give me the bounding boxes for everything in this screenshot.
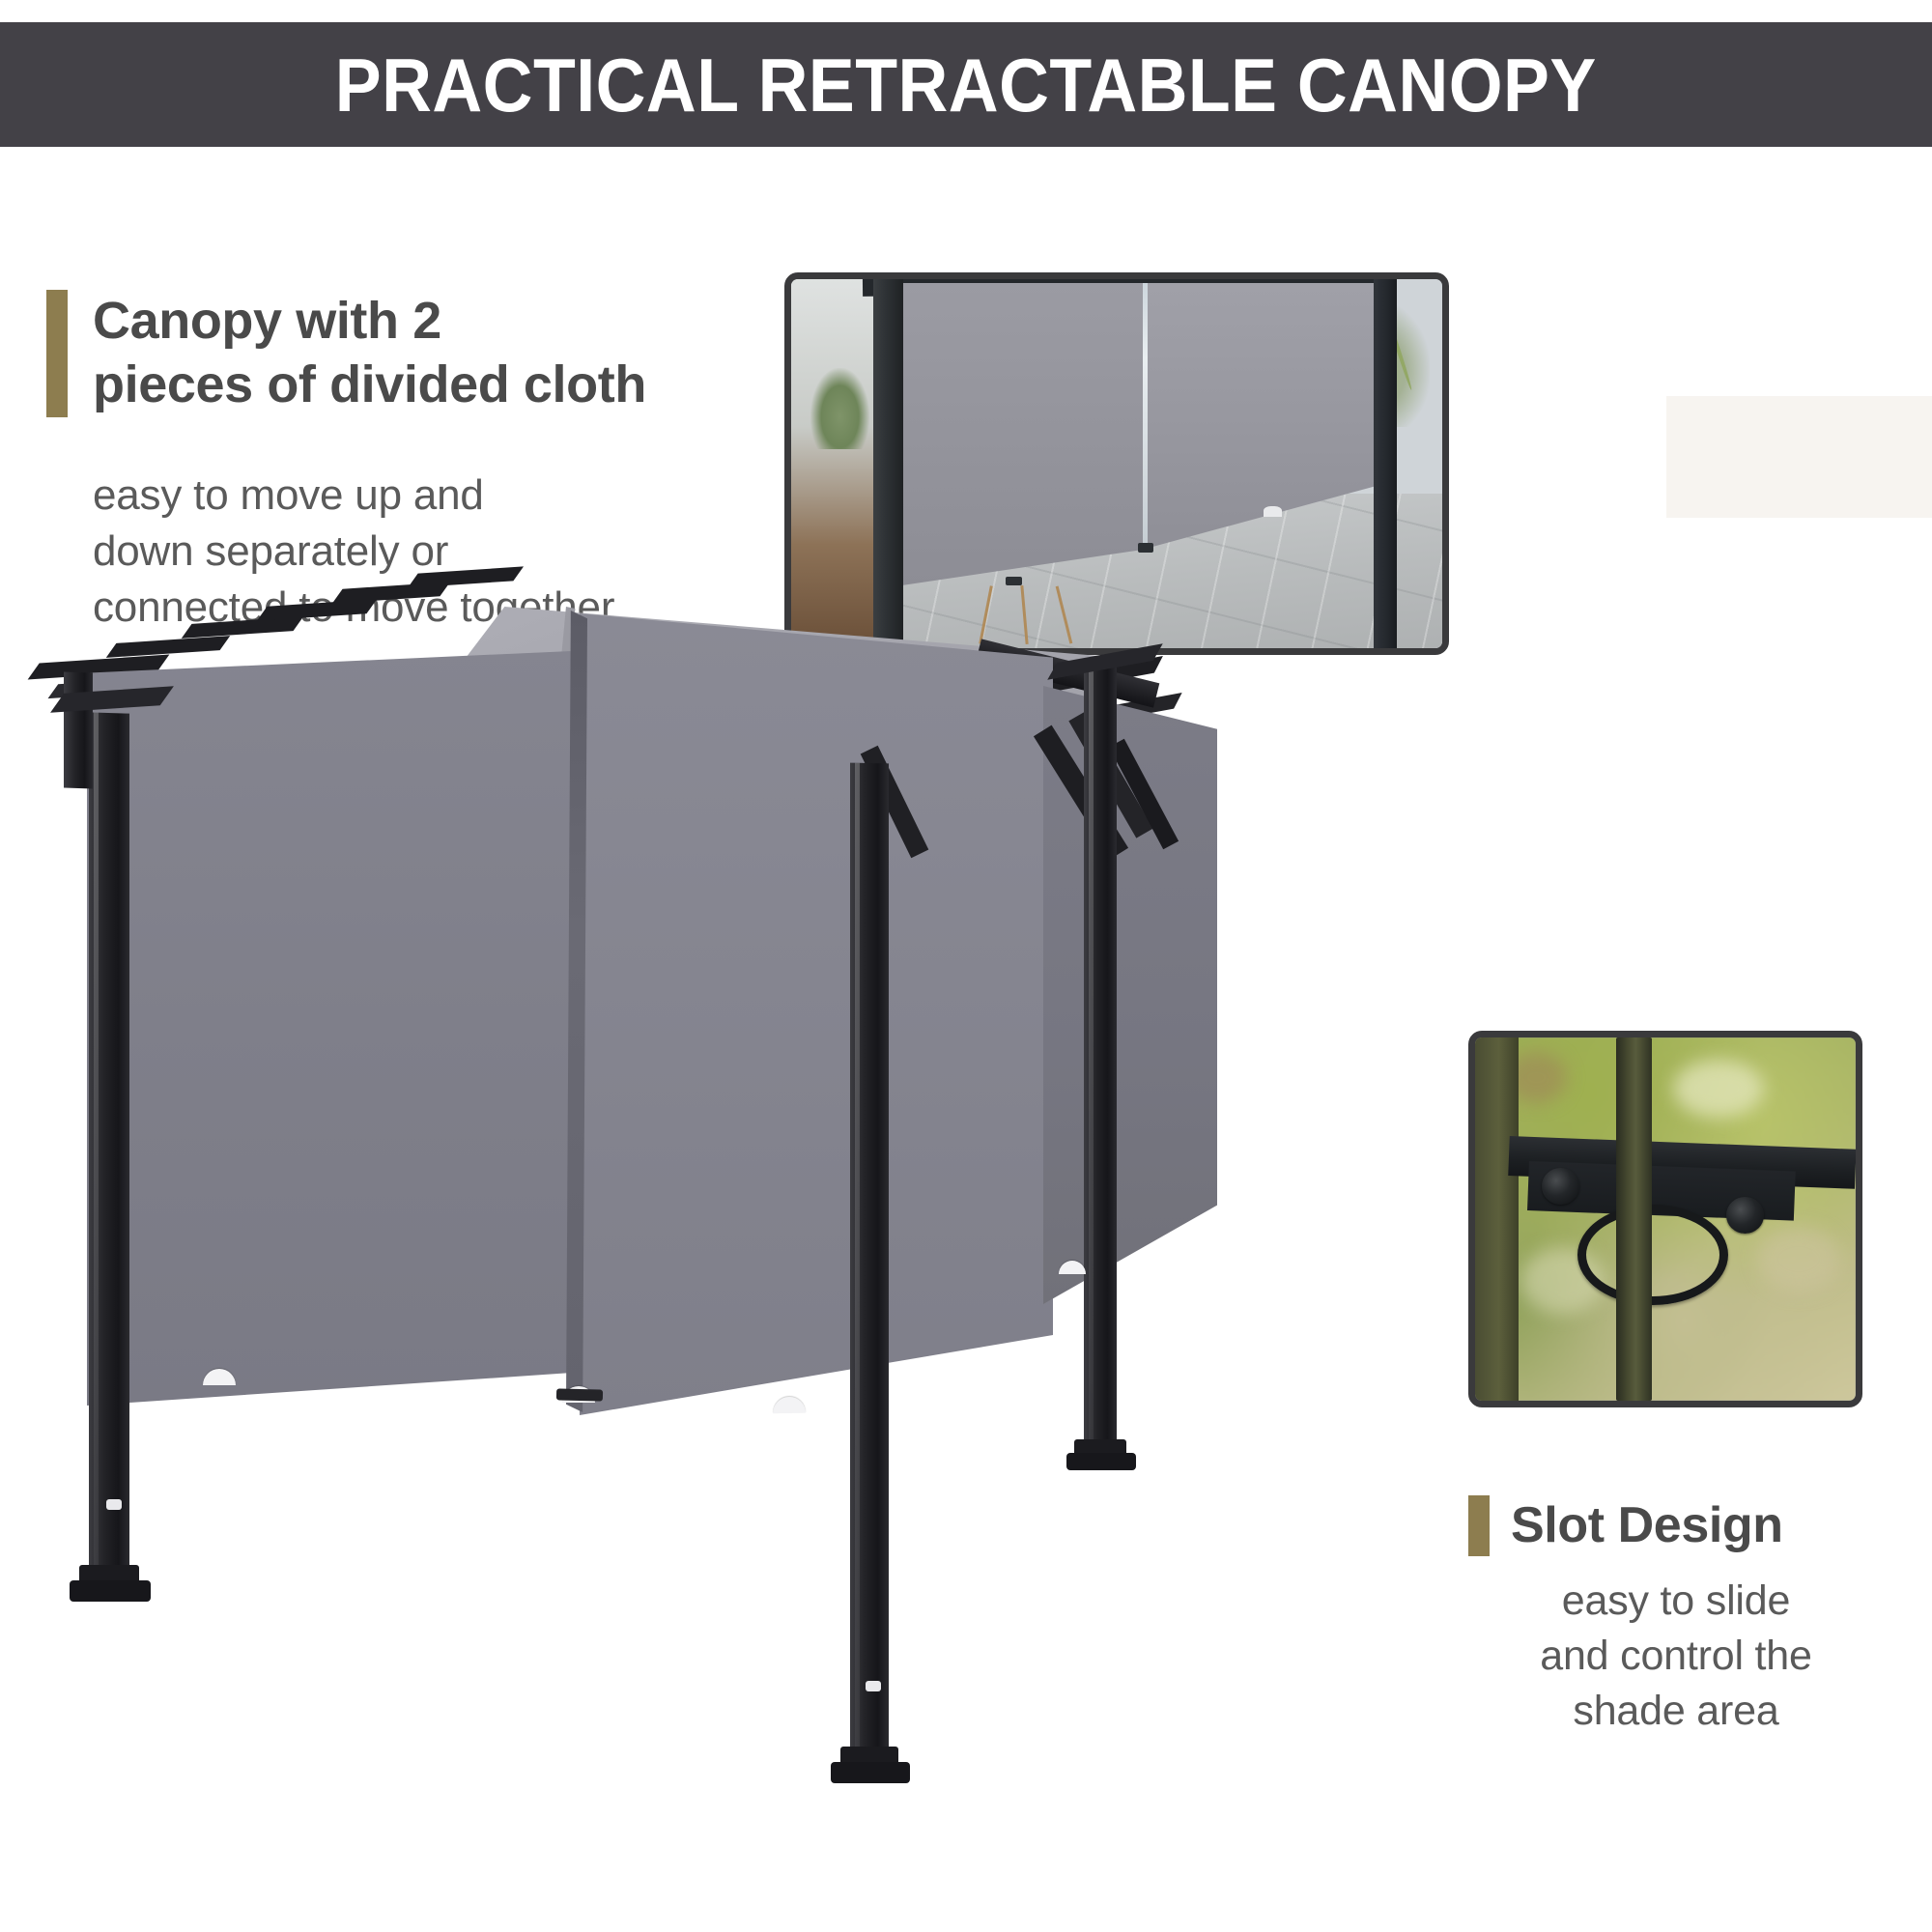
post-rear-right [1084,663,1117,1454]
post-base-plate-outer [70,1580,151,1602]
decorative-cream-panel [1666,396,1932,518]
page-title: PRACTICAL RETRACTABLE CANOPY [335,47,1597,123]
feature-heading-row: Canopy with 2 pieces of divided cloth [46,290,703,417]
pergola-render [0,667,1507,1884]
feature-heading-line-2: pieces of divided cloth [93,354,646,417]
photo-canopy-clip [1138,543,1153,553]
feature-slot-design: Slot Design easy to slide and control th… [1468,1495,1884,1739]
photo-bolt-left [1542,1168,1579,1205]
post-rear-left [64,671,93,788]
post-base-plate-outer [831,1762,910,1783]
post-fastener [106,1499,122,1510]
accent-bar-icon [46,290,68,417]
post-front-center [850,763,889,1769]
feature-heading-line-1: Canopy with 2 [93,290,646,354]
photo-table-leg [979,585,993,644]
photo-light-blob [1757,1227,1841,1293]
canopy-panel-front-right [580,613,1053,1415]
feature-heading: Canopy with 2 pieces of divided cloth [93,290,646,417]
canopy-bottom-clip [556,1388,603,1401]
accent-bar-icon [1468,1495,1490,1556]
feature-body-line-1: easy to move up and [93,468,703,524]
post-highlight [1089,663,1094,1453]
photo-canopy-eyelet [1264,506,1282,517]
feature-body-line-2: and control the [1468,1629,1884,1684]
photo-table-leg [1056,586,1073,644]
slot-detail-photo [1468,1031,1862,1407]
canopy-eyelet [773,1397,806,1414]
feature-body-line-2: down separately or [93,524,703,580]
photo-table-leg [1021,585,1029,644]
photo-canopy-seam [1143,283,1148,553]
feature-body-line-3: shade area [1468,1684,1884,1739]
photo-canopy-clip [1006,577,1021,586]
photo-left-post [873,272,903,655]
canopy-panels-photo [784,272,1449,655]
photo-light-blob [1673,1060,1765,1118]
feature-body-line-1: easy to slide [1468,1574,1884,1629]
photo-slot-ring [1577,1205,1728,1305]
feature-heading-row: Slot Design [1468,1495,1884,1556]
feature-body: easy to slide and control the shade area [1468,1574,1884,1738]
photo-left-plant [810,368,869,449]
photo-furniture-legs [974,585,1078,644]
feature-canopy-divided-cloth: Canopy with 2 pieces of divided cloth ea… [46,290,703,636]
photo-right-post [1374,272,1397,655]
post-fastener [866,1681,881,1691]
post-highlight [855,763,860,1768]
infographic-page: PRACTICAL RETRACTABLE CANOPY Canopy with… [0,0,1932,1932]
header-banner: PRACTICAL RETRACTABLE CANOPY [0,22,1932,147]
photo-secondary-post [1475,1037,1519,1401]
post-highlight [94,712,99,1586]
photo-main-post [1616,1037,1652,1401]
feature-heading: Slot Design [1511,1495,1783,1556]
photo-canopy-panel-left [902,283,1147,585]
post-front-left [89,712,129,1587]
post-base-plate-outer [1066,1453,1136,1470]
feature-body: easy to move up and down separately or c… [93,468,703,636]
